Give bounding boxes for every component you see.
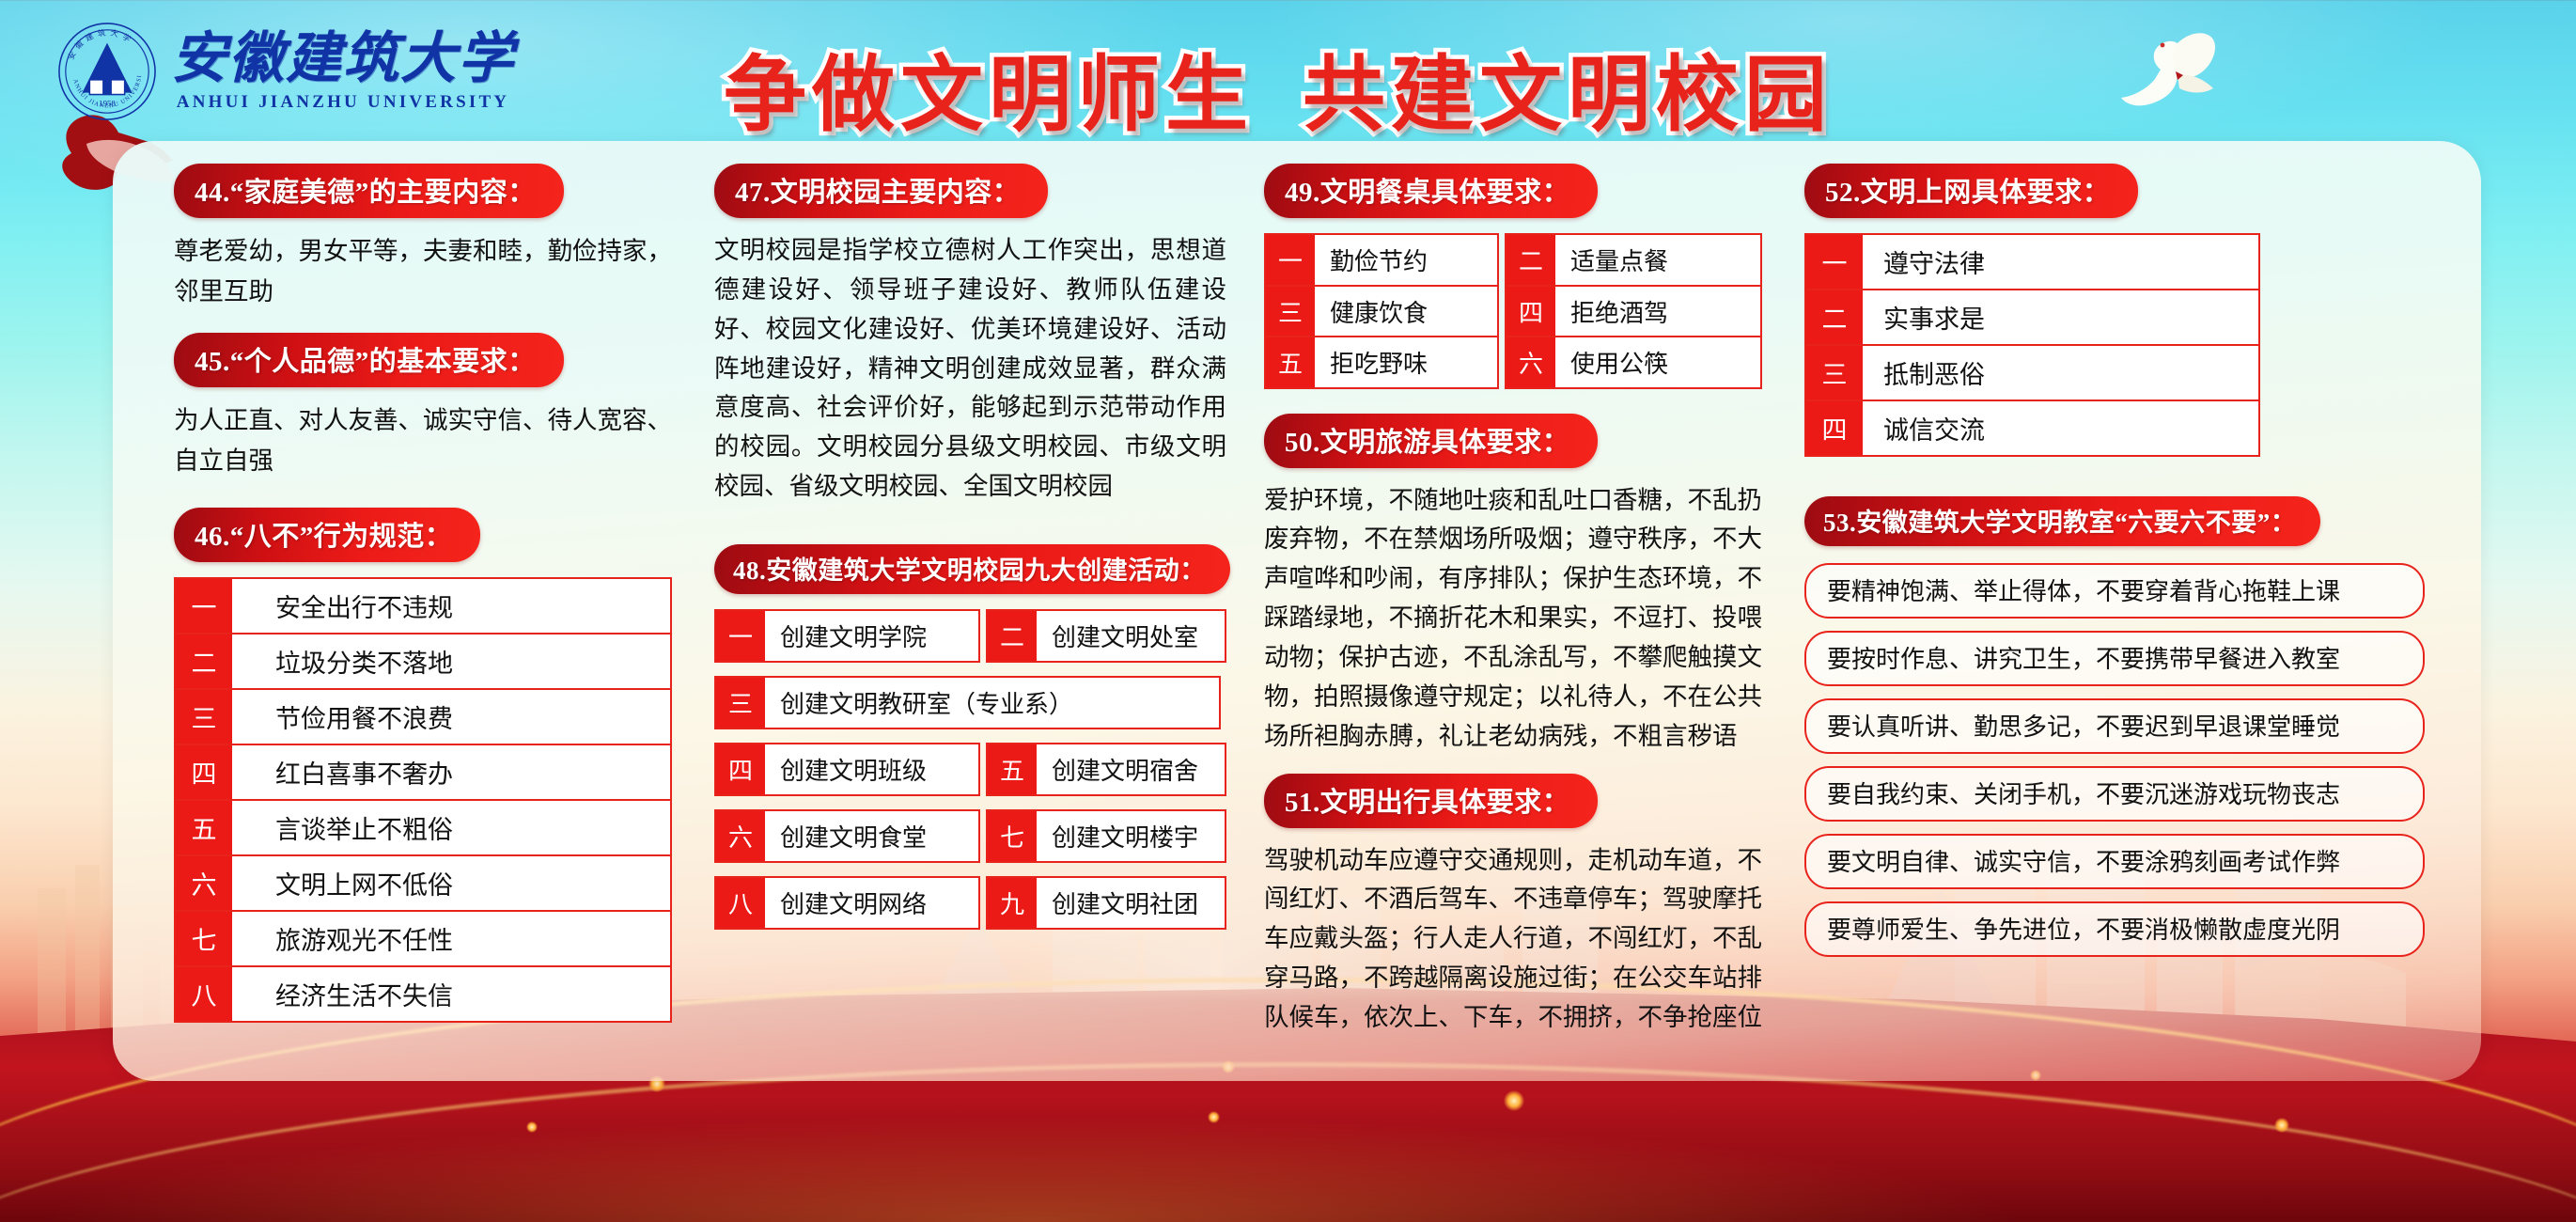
list-item: 要自我约束、关闭手机，不要沉迷游戏玩物丧志 bbox=[1804, 766, 2425, 822]
row-number: 四 bbox=[716, 744, 765, 794]
title-part-2: 共建文明校园 bbox=[1303, 48, 1833, 141]
table-row: 三创建文明教研室（专业系） bbox=[714, 676, 1226, 729]
list-item: 九创建文明社团 bbox=[986, 876, 1226, 930]
row-number: 三 bbox=[1806, 346, 1863, 399]
content-board: 44.“家庭美德”的主要内容： 尊老爱幼，男女平等，夫妻和睦，勤俭持家，邻里互助… bbox=[113, 141, 2481, 1081]
row-number: 六 bbox=[176, 856, 232, 910]
row-number: 四 bbox=[1806, 401, 1863, 455]
row-number: 五 bbox=[1266, 337, 1315, 387]
table-row: 四诚信交流 bbox=[1806, 401, 2258, 455]
row-text: 创建文明处室 bbox=[1037, 611, 1225, 661]
row-number: 七 bbox=[988, 811, 1037, 861]
table-row: 六创建文明食堂 七创建文明楼宇 bbox=[714, 809, 1226, 863]
row-text: 创建文明网络 bbox=[765, 878, 978, 928]
row-text: 创建文明食堂 bbox=[765, 811, 978, 861]
section-47-heading: 47.文明校园主要内容： bbox=[714, 164, 1048, 218]
section-52-heading: 52.文明上网具体要求： bbox=[1804, 164, 2138, 218]
list-item: 五创建文明宿舍 bbox=[986, 743, 1226, 796]
row-text: 遵守法律 bbox=[1863, 235, 2258, 289]
row-text: 创建文明教研室（专业系） bbox=[765, 678, 1219, 728]
table-row: 七旅游观光不任性 bbox=[176, 912, 670, 967]
table-row: 一勤俭节约 二适量点餐 bbox=[1264, 233, 1762, 287]
row-text: 旅游观光不任性 bbox=[232, 912, 670, 965]
section-46-table: 一安全出行不违规 二垃圾分类不落地 三节俭用餐不浪费 四红白喜事不奢办 五言谈举… bbox=[174, 577, 672, 1023]
table-row: 四红白喜事不奢办 bbox=[176, 745, 670, 801]
list-item: 七创建文明楼宇 bbox=[986, 809, 1226, 863]
title-part-1: 争做文明师生 bbox=[724, 48, 1254, 141]
page-title: 争做文明师生共建文明校园 bbox=[724, 28, 1833, 148]
row-text: 红白喜事不奢办 bbox=[232, 745, 670, 799]
column-1: 44.“家庭美德”的主要内容： 尊老爱幼，男女平等，夫妻和睦，勤俭持家，邻里互助… bbox=[174, 164, 672, 1023]
row-text: 健康饮食 bbox=[1315, 287, 1497, 337]
section-45-heading: 45.“个人品德”的基本要求： bbox=[174, 333, 564, 387]
section-49-heading: 49.文明餐桌具体要求： bbox=[1264, 164, 1598, 218]
row-text: 言谈举止不粗俗 bbox=[232, 801, 670, 854]
section-45-body: 为人正直、对人友善、诚实守信、待人宽容、自立自强 bbox=[174, 400, 672, 481]
logo-english-name: ANHUI JIANZHU UNIVERSITY bbox=[177, 92, 509, 113]
row-number: 二 bbox=[176, 634, 232, 688]
university-seal-icon: 1958 安 徽 建 筑 大 学 ANHUI JIANZHU UNIVERSIT… bbox=[56, 21, 158, 122]
table-row: 三健康饮食 四拒绝酒驾 bbox=[1264, 285, 1762, 338]
list-item: 六创建文明食堂 bbox=[714, 809, 980, 863]
logo-chinese-name: 安徽建筑大学 bbox=[171, 30, 515, 88]
spark-dot bbox=[526, 1121, 538, 1133]
row-number: 七 bbox=[176, 912, 232, 965]
row-number: 四 bbox=[176, 745, 232, 799]
gold-arc-line-secondary bbox=[0, 1062, 2576, 1222]
column-4: 52.文明上网具体要求： 一遵守法律 二实事求是 三抵制恶俗 四诚信交流 53.… bbox=[1804, 164, 2425, 957]
spark-dot bbox=[2274, 1118, 2289, 1133]
list-item: 四创建文明班级 bbox=[714, 743, 980, 796]
spark-dot bbox=[1504, 1090, 1524, 1111]
row-number: 二 bbox=[1806, 290, 1863, 344]
section-46-heading: 46.“八不”行为规范： bbox=[174, 508, 480, 562]
table-row: 一创建文明学院 二创建文明处室 bbox=[714, 609, 1226, 663]
section-44-body: 尊老爱幼，男女平等，夫妻和睦，勤俭持家，邻里互助 bbox=[174, 231, 672, 312]
list-item: 三健康饮食 bbox=[1264, 285, 1499, 338]
spark-dot bbox=[1208, 1111, 1220, 1123]
list-item: 一创建文明学院 bbox=[714, 609, 980, 663]
section-44-heading: 44.“家庭美德”的主要内容： bbox=[174, 164, 564, 218]
row-text: 安全出行不违规 bbox=[232, 579, 670, 633]
table-row: 二实事求是 bbox=[1806, 290, 2258, 346]
table-row: 八经济生活不失信 bbox=[176, 967, 670, 1021]
row-text: 创建文明楼宇 bbox=[1037, 811, 1225, 861]
table-row: 二垃圾分类不落地 bbox=[176, 634, 670, 690]
row-text: 诚信交流 bbox=[1863, 401, 2258, 455]
section-52-table: 一遵守法律 二实事求是 三抵制恶俗 四诚信交流 bbox=[1804, 233, 2260, 457]
row-text: 创建文明班级 bbox=[765, 744, 978, 794]
row-number: 三 bbox=[1266, 287, 1315, 337]
row-text: 适量点餐 bbox=[1555, 235, 1760, 285]
column-2: 47.文明校园主要内容： 文明校园是指学校立德树人工作突出，思想道德建设好、领导… bbox=[714, 164, 1226, 930]
list-item: 五拒吃野味 bbox=[1264, 336, 1499, 389]
row-number: 九 bbox=[988, 878, 1037, 928]
section-47-body: 文明校园是指学校立德树人工作突出，思想道德建设好、领导班子建设好、教师队伍建设好… bbox=[714, 231, 1226, 507]
row-text: 使用公筷 bbox=[1555, 337, 1760, 387]
list-item: 二适量点餐 bbox=[1505, 233, 1762, 287]
list-item: 一勤俭节约 bbox=[1264, 233, 1499, 287]
section-53-list: 要精神饱满、举止得体，不要穿着背心拖鞋上课 要按时作息、讲究卫生，不要携带早餐进… bbox=[1804, 563, 2425, 957]
list-item: 要尊师爱生、争先进位，不要消极懒散虚度光阴 bbox=[1804, 901, 2425, 957]
table-row: 一遵守法律 bbox=[1806, 235, 2258, 290]
list-item: 四拒绝酒驾 bbox=[1505, 285, 1762, 338]
row-number: 一 bbox=[1806, 235, 1863, 289]
list-item: 三创建文明教研室（专业系） bbox=[714, 676, 1221, 729]
row-text: 经济生活不失信 bbox=[232, 967, 670, 1021]
section-51-heading: 51.文明出行具体要求： bbox=[1264, 774, 1598, 828]
row-number: 八 bbox=[716, 878, 765, 928]
row-number: 三 bbox=[176, 690, 232, 744]
university-logo: 1958 安 徽 建 筑 大 学 ANHUI JIANZHU UNIVERSIT… bbox=[56, 21, 515, 122]
row-number: 三 bbox=[716, 678, 765, 728]
table-row: 八创建文明网络 九创建文明社团 bbox=[714, 876, 1226, 930]
row-number: 一 bbox=[716, 611, 765, 661]
row-number: 八 bbox=[176, 967, 232, 1021]
table-row: 四创建文明班级 五创建文明宿舍 bbox=[714, 743, 1226, 796]
section-51-body: 驾驶机动车应遵守交通规则，走机动车道，不闯红灯、不酒后驾车、不违章停车；驾驶摩托… bbox=[1264, 841, 1762, 1038]
row-number: 一 bbox=[1266, 235, 1315, 285]
section-48-heading: 48.安徽建筑大学文明校园九大创建活动： bbox=[714, 544, 1230, 594]
row-number: 四 bbox=[1507, 287, 1555, 337]
list-item: 要按时作息、讲究卫生，不要携带早餐进入教室 bbox=[1804, 631, 2425, 686]
section-50-heading: 50.文明旅游具体要求： bbox=[1264, 414, 1598, 468]
row-text: 创建文明社团 bbox=[1037, 878, 1225, 928]
list-item: 要文明自律、诚实守信，不要涂鸦刻画考试作弊 bbox=[1804, 834, 2425, 889]
row-number: 二 bbox=[1507, 235, 1555, 285]
table-row: 三抵制恶俗 bbox=[1806, 346, 2258, 401]
row-text: 创建文明宿舍 bbox=[1037, 744, 1225, 794]
table-row: 五拒吃野味 六使用公筷 bbox=[1264, 336, 1762, 389]
row-text: 文明上网不低俗 bbox=[232, 856, 670, 910]
row-text: 抵制恶俗 bbox=[1863, 346, 2258, 399]
row-number: 五 bbox=[988, 744, 1037, 794]
table-row: 五言谈举止不粗俗 bbox=[176, 801, 670, 856]
row-number: 六 bbox=[1507, 337, 1555, 387]
row-text: 勤俭节约 bbox=[1315, 235, 1497, 285]
row-text: 拒绝酒驾 bbox=[1555, 287, 1760, 337]
list-item: 八创建文明网络 bbox=[714, 876, 980, 930]
table-row: 三节俭用餐不浪费 bbox=[176, 690, 670, 745]
row-text: 节俭用餐不浪费 bbox=[232, 690, 670, 744]
section-49-table: 一勤俭节约 二适量点餐 三健康饮食 四拒绝酒驾 五拒吃野味 六使用公筷 bbox=[1264, 233, 1762, 387]
row-text: 垃圾分类不落地 bbox=[232, 634, 670, 688]
page-header: 1958 安 徽 建 筑 大 学 ANHUI JIANZHU UNIVERSIT… bbox=[0, 0, 2576, 141]
row-number: 一 bbox=[176, 579, 232, 633]
column-3: 49.文明餐桌具体要求： 一勤俭节约 二适量点餐 三健康饮食 四拒绝酒驾 五拒吃… bbox=[1264, 164, 1762, 1038]
section-48-table: 一创建文明学院 二创建文明处室 三创建文明教研室（专业系） 四创建文明班级 五创… bbox=[714, 609, 1226, 930]
svg-text:安 徽 建 筑 大 学: 安 徽 建 筑 大 学 bbox=[66, 27, 133, 60]
table-row: 一安全出行不违规 bbox=[176, 579, 670, 634]
table-row: 六文明上网不低俗 bbox=[176, 856, 670, 912]
row-text: 实事求是 bbox=[1863, 290, 2258, 344]
list-item: 六使用公筷 bbox=[1505, 336, 1762, 389]
row-text: 拒吃野味 bbox=[1315, 337, 1497, 387]
list-item: 要精神饱满、举止得体，不要穿着背心拖鞋上课 bbox=[1804, 563, 2425, 619]
list-item: 二创建文明处室 bbox=[986, 609, 1226, 663]
row-number: 二 bbox=[988, 611, 1037, 661]
row-number: 六 bbox=[716, 811, 765, 861]
row-text: 创建文明学院 bbox=[765, 611, 978, 661]
row-number: 五 bbox=[176, 801, 232, 854]
list-item: 要认真听讲、勤思多记，不要迟到早退课堂睡觉 bbox=[1804, 698, 2425, 754]
section-53-heading: 53.安徽建筑大学文明教室“六要六不要”： bbox=[1804, 496, 2320, 546]
section-50-body: 爱护环境，不随地吐痰和乱吐口香糖，不乱扔废弃物，不在禁烟场所吸烟；遵守秩序，不大… bbox=[1264, 481, 1762, 757]
